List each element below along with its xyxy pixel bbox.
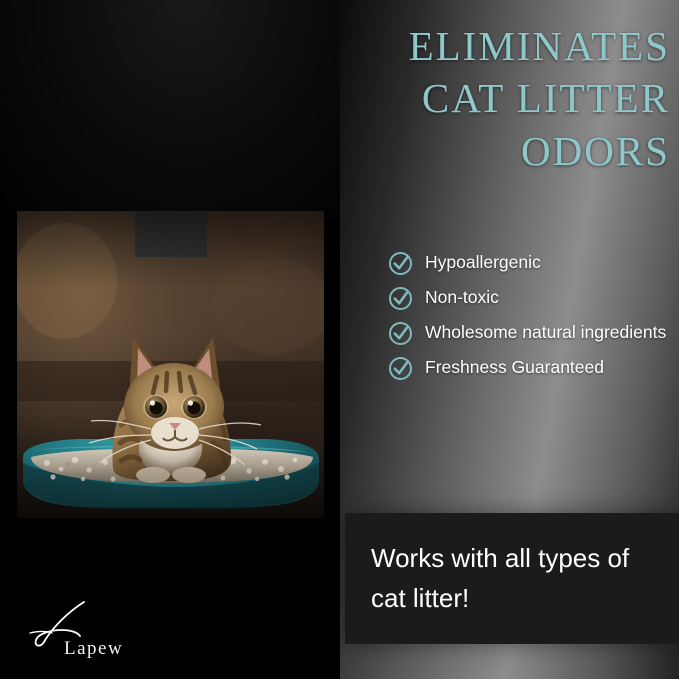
callout-box: Works with all types of cat litter! — [345, 513, 679, 644]
check-circle-icon — [388, 321, 413, 346]
benefit-item: Hypoallergenic — [388, 250, 678, 276]
benefit-item: Freshness Guaranteed — [388, 355, 678, 381]
left-panel-glow — [0, 0, 341, 220]
benefit-label: Freshness Guaranteed — [425, 355, 604, 380]
brand-logo: Lapew — [28, 600, 188, 662]
kitten-litter-box-photo — [17, 211, 324, 518]
check-circle-icon — [388, 286, 413, 311]
benefit-label: Wholesome natural ingredients — [425, 320, 666, 345]
headline-line-1: ELIMINATES — [292, 20, 670, 72]
product-ad-image: ELIMINATES CAT LITTER ODORS — [0, 0, 679, 679]
check-circle-icon — [388, 356, 413, 381]
check-circle-icon — [388, 251, 413, 276]
benefit-item: Wholesome natural ingredients — [388, 320, 678, 346]
benefit-label: Non-toxic — [425, 285, 499, 310]
brand-name: Lapew — [64, 638, 123, 660]
callout-text: Works with all types of cat litter! — [371, 539, 657, 618]
benefit-item: Non-toxic — [388, 285, 678, 311]
headline: ELIMINATES CAT LITTER ODORS — [292, 20, 670, 177]
headline-line-2: CAT LITTER — [292, 72, 670, 124]
benefits-list: Hypoallergenic Non-toxic Wholesome natur… — [388, 250, 678, 390]
headline-line-3: ODORS — [292, 125, 670, 177]
benefit-label: Hypoallergenic — [425, 250, 541, 275]
